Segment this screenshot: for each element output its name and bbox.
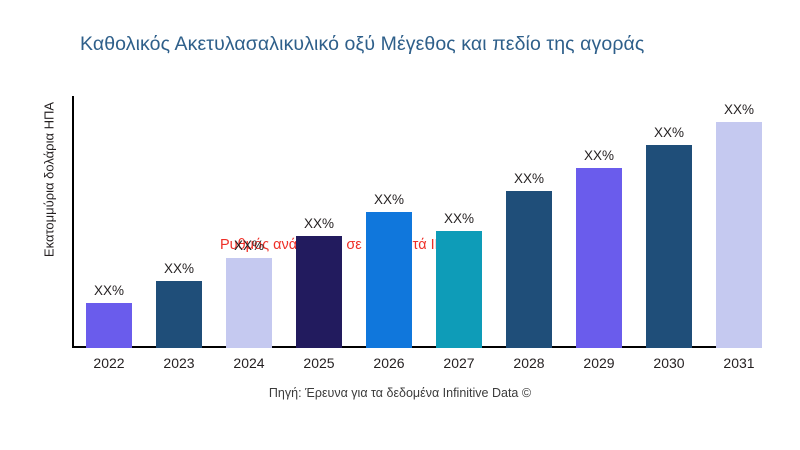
x-tick-label-2027: 2027 <box>424 355 494 371</box>
x-tick-label-2029: 2029 <box>564 355 634 371</box>
x-tick-label-2025: 2025 <box>284 355 354 371</box>
plot-area: Ρυθμός ανάπτυξης σε xx% κατά IDR XX%XX%X… <box>72 96 730 348</box>
x-tick-label-2024: 2024 <box>214 355 284 371</box>
y-axis-label: Εκατομμύρια δολάρια ΗΠΑ <box>42 70 57 290</box>
x-axis-tick-labels: 2022202320242025202620272028202920302031 <box>72 355 800 377</box>
bar-group: XX% <box>576 96 622 348</box>
bar-value-label-2029: XX% <box>584 148 614 163</box>
chart-title: Καθολικός Ακετυλασαλικυλικό οξύ Μέγεθος … <box>80 33 780 56</box>
bar-value-label-2027: XX% <box>444 211 474 226</box>
x-tick-label-2030: 2030 <box>634 355 704 371</box>
bar-group: XX% <box>226 96 272 348</box>
y-axis-line <box>72 96 74 348</box>
bar-2022[interactable] <box>86 303 132 348</box>
bar-group: XX% <box>506 96 552 348</box>
bar-2030[interactable] <box>646 145 692 348</box>
bar-group: XX% <box>716 96 762 348</box>
x-tick-label-2028: 2028 <box>494 355 564 371</box>
x-tick-label-2023: 2023 <box>144 355 214 371</box>
bar-2024[interactable] <box>226 258 272 348</box>
bar-2023[interactable] <box>156 281 202 348</box>
x-tick-label-2026: 2026 <box>354 355 424 371</box>
bar-value-label-2030: XX% <box>654 125 684 140</box>
bar-group: XX% <box>86 96 132 348</box>
source-note: Πηγή: Έρευνα για τα δεδομένα Infinitive … <box>0 386 800 400</box>
bar-2025[interactable] <box>296 236 342 348</box>
bar-value-label-2023: XX% <box>164 261 194 276</box>
bar-2029[interactable] <box>576 168 622 348</box>
bar-value-label-2026: XX% <box>374 192 404 207</box>
bar-2026[interactable] <box>366 212 412 348</box>
bar-group: XX% <box>156 96 202 348</box>
bar-2031[interactable] <box>716 122 762 348</box>
x-tick-label-2022: 2022 <box>74 355 144 371</box>
bar-group: XX% <box>366 96 412 348</box>
bar-value-label-2028: XX% <box>514 171 544 186</box>
bar-group: XX% <box>436 96 482 348</box>
x-tick-label-2031: 2031 <box>704 355 774 371</box>
bar-2028[interactable] <box>506 191 552 348</box>
bar-value-label-2022: XX% <box>94 283 124 298</box>
bar-value-label-2024: XX% <box>234 238 264 253</box>
bar-group: XX% <box>646 96 692 348</box>
bar-group: XX% <box>296 96 342 348</box>
bar-2027[interactable] <box>436 231 482 348</box>
bar-value-label-2025: XX% <box>304 216 334 231</box>
chart-container: Καθολικός Ακετυλασαλικυλικό οξύ Μέγεθος … <box>0 0 800 450</box>
bar-value-label-2031: XX% <box>724 102 754 117</box>
